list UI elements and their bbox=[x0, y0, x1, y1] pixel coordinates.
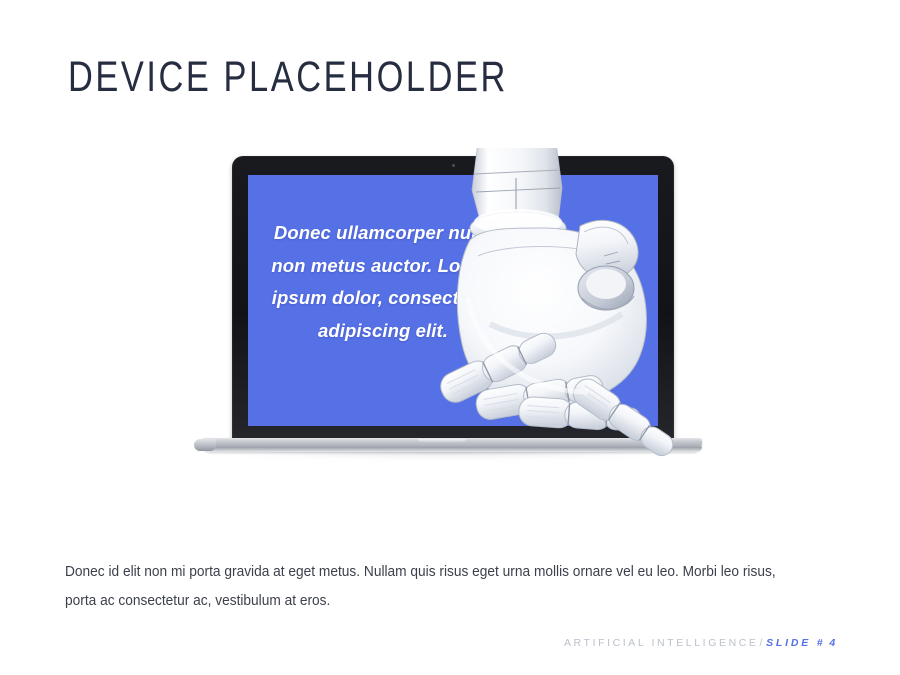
laptop-base-left-cap bbox=[194, 439, 216, 451]
laptop-base-front-edge bbox=[202, 447, 702, 452]
page-title: DEVICE PLACEHOLDER bbox=[68, 54, 508, 101]
presentation-slide: DEVICE PLACEHOLDER Donec ullamcorper nul… bbox=[0, 0, 900, 675]
footer-label: ARTIFICIAL INTELLIGENCE bbox=[564, 637, 759, 649]
laptop-lid: Donec ullamcorper nulla non metus auctor… bbox=[232, 156, 674, 444]
webcam-icon bbox=[452, 164, 455, 167]
footer-slide-label: SLIDE # bbox=[766, 637, 825, 649]
laptop-base-notch bbox=[418, 439, 466, 442]
laptop-screen: Donec ullamcorper nulla non metus auctor… bbox=[248, 175, 658, 426]
slide-footer: ARTIFICIAL INTELLIGENCE/SLIDE #4 bbox=[564, 637, 838, 649]
caption-paragraph: Donec id elit non mi porta gravida at eg… bbox=[65, 558, 794, 616]
slide-number: 4 bbox=[825, 637, 838, 649]
laptop-base bbox=[202, 438, 702, 452]
footer-separator: / bbox=[759, 637, 767, 649]
device-mockup: Donec ullamcorper nulla non metus auctor… bbox=[180, 150, 700, 530]
screen-quote-text: Donec ullamcorper nulla non metus auctor… bbox=[256, 217, 510, 348]
